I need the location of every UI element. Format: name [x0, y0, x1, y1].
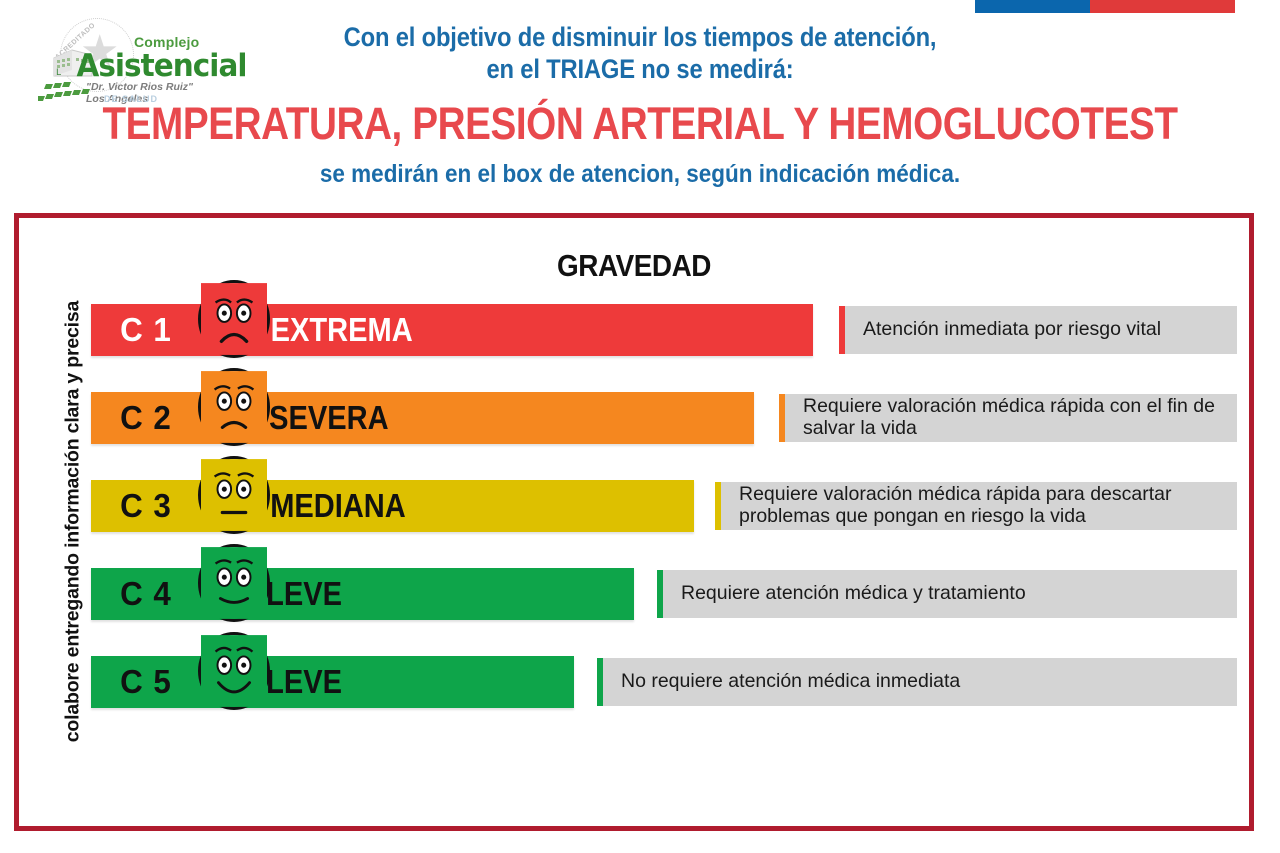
severity-description: Requiere valoración médica rápida con el… [779, 394, 1237, 442]
happy-smile-icon [198, 632, 270, 710]
severity-label: EXTREMA [271, 311, 413, 349]
header-line-3: se medirán en el box de atencion, según … [64, 160, 1216, 189]
severity-bar: C 5LEVE [91, 656, 574, 708]
triage-rows: C 1EXTREMAAtención inmediata por riesgo … [91, 290, 1237, 730]
severity-label: MEDIANA [270, 487, 406, 525]
header-line-2: en el TRIAGE no se medirá: [77, 54, 1203, 85]
header-line-1: Con el objetivo de disminuir los tiempos… [77, 22, 1203, 53]
triage-row: C 1EXTREMAAtención inmediata por riesgo … [91, 290, 1237, 378]
severity-description: Requiere valoración médica rápida para d… [715, 482, 1237, 530]
category-code: C 2 [94, 399, 199, 437]
triage-row: C 3MEDIANARequiere valoración médica ráp… [91, 466, 1237, 554]
severity-bar: C 4LEVE [91, 568, 634, 620]
flag-red-block [1090, 0, 1235, 13]
category-code: C 5 [94, 663, 199, 701]
triage-row: C 2SEVERARequiere valoración médica rápi… [91, 378, 1237, 466]
severity-bar: C 2SEVERA [91, 392, 754, 444]
severity-description: Requiere atención médica y tratamiento [657, 570, 1237, 618]
triage-row: C 5LEVENo requiere atención médica inmed… [91, 642, 1237, 730]
category-code: C 3 [94, 487, 199, 525]
vertical-note: colabore entregando información clara y … [62, 292, 85, 752]
slight-smile-icon [198, 544, 270, 622]
severity-description: Atención inmediata por riesgo vital [839, 306, 1237, 354]
neutral-flat-icon [198, 456, 270, 534]
sad-frown-icon [198, 280, 270, 358]
severity-label: LEVE [266, 663, 342, 701]
panel-title: GRAVEDAD [81, 248, 1188, 284]
severity-description: No requiere atención médica inmediata [597, 658, 1237, 706]
triage-panel: GRAVEDAD colabore entregando información… [14, 213, 1254, 831]
poster-root: ACREDITADO L Complejo Asistencial [0, 0, 1280, 853]
severity-label: LEVE [266, 575, 342, 613]
category-code: C 1 [94, 311, 199, 349]
category-code: C 4 [94, 575, 199, 613]
severity-bar: C 3MEDIANA [91, 480, 694, 532]
chile-flag-bar [975, 0, 1235, 13]
worried-frown-icon [198, 368, 270, 446]
severity-label: SEVERA [269, 399, 388, 437]
triage-row: C 4LEVERequiere atención médica y tratam… [91, 554, 1237, 642]
flag-blue-block [975, 0, 1090, 13]
header-highlight: TEMPERATURA, PRESIÓN ARTERIAL Y HEMOGLUC… [90, 98, 1191, 150]
svg-text:L: L [56, 68, 61, 78]
